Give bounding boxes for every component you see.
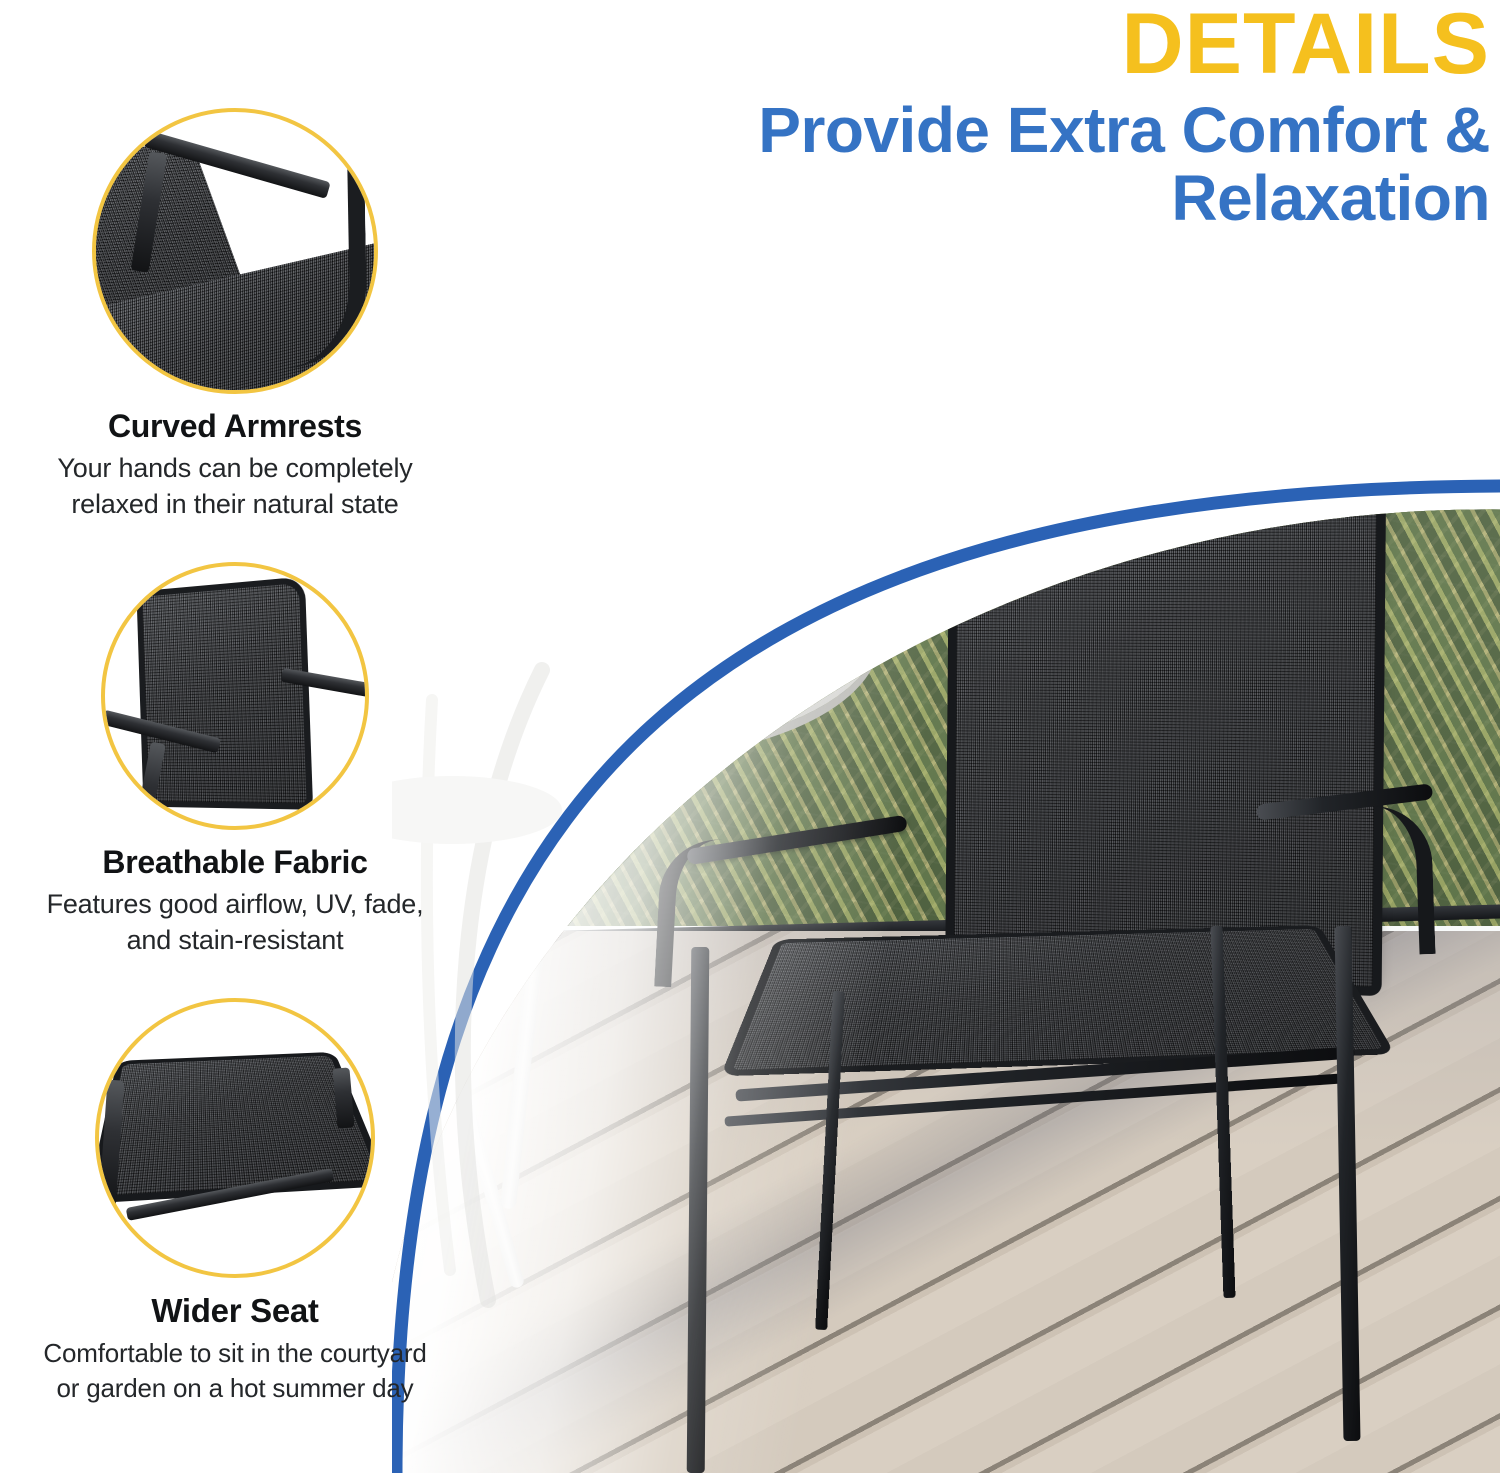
feature-desc-line1: Your hands can be completely — [57, 453, 412, 483]
outdoor-scene — [392, 378, 1500, 1473]
page-header: DETAILS Provide Extra Comfort & Relaxati… — [300, 0, 1490, 310]
feature-title: Breathable Fabric — [0, 844, 470, 881]
feature-desc-line2: or garden on a hot summer day — [57, 1373, 414, 1403]
page-title-eyebrow: DETAILS — [300, 0, 1490, 86]
feature-text: Curved Armrests Your hands can be comple… — [0, 394, 470, 523]
page-headline-line2: Relaxation — [300, 164, 1490, 232]
photo-fade-overlay — [392, 378, 1500, 1473]
feature-thumb-wrap — [0, 998, 470, 1278]
feature-description: Your hands can be completely relaxed in … — [0, 445, 470, 523]
open-magazine — [443, 531, 674, 652]
page-headline-line1: Provide Extra Comfort & — [758, 94, 1490, 166]
feature-text: Wider Seat Comfortable to sit in the cou… — [0, 1278, 470, 1405]
thumb2-backrest-fabric — [142, 583, 306, 803]
feature-thumb-wrap — [0, 108, 470, 394]
feature-title: Curved Armrests — [0, 408, 470, 445]
feature-desc-line1: Comfortable to sit in the courtyard — [43, 1338, 426, 1368]
feature-title: Wider Seat — [0, 1292, 470, 1330]
foliage-shadow-layer — [503, 378, 1002, 597]
feature-desc-line1: Features good airflow, UV, fade, — [47, 889, 424, 919]
feature-description: Features good airflow, UV, fade, and sta… — [0, 881, 470, 959]
railing-top-cap — [392, 378, 1500, 386]
feature-card-wider-seat: Wider Seat Comfortable to sit in the cou… — [0, 998, 470, 1405]
feature-card-breathable-fabric: Breathable Fabric Features good airflow,… — [0, 562, 470, 959]
page-headline: Provide Extra Comfort & Relaxation — [300, 86, 1490, 233]
thumbnail-breathable-fabric — [101, 562, 369, 830]
feature-thumb-wrap — [0, 562, 470, 830]
hero-photo-clip — [392, 378, 1500, 1473]
feature-text: Breathable Fabric Features good airflow,… — [0, 830, 470, 959]
thumbnail-wider-seat — [95, 998, 375, 1278]
feature-card-curved-armrests: Curved Armrests Your hands can be comple… — [0, 108, 470, 523]
thumbnail-curved-armrests — [92, 108, 378, 394]
feature-description: Comfortable to sit in the courtyard or g… — [0, 1330, 470, 1405]
feature-desc-line2: and stain-resistant — [127, 925, 344, 955]
feature-desc-line2: relaxed in their natural state — [71, 489, 398, 519]
hero-product-photo — [392, 378, 1500, 1473]
